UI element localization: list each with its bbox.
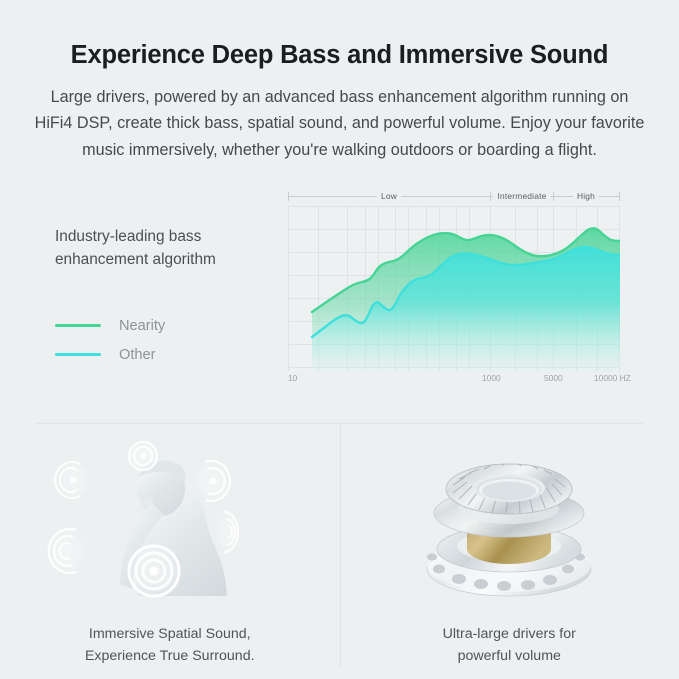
panel-ultra-large-drivers: Ultra-large drivers for powerful volume <box>340 424 679 679</box>
spatial-sound-svg <box>30 441 310 611</box>
speaker-driver-exploded-view <box>340 438 679 613</box>
legend-item-nearity: Nearity <box>55 311 280 340</box>
page-title: Experience Deep Bass and Immersive Sound <box>28 40 651 70</box>
panel-caption-line-2: Experience True Surround. <box>85 645 255 667</box>
band-label-intermediate: Intermediate <box>494 188 551 204</box>
header-section: Experience Deep Bass and Immersive Sound… <box>0 0 679 163</box>
frequency-band-ruler: Low Intermediate High <box>288 188 620 204</box>
chart-plot-area <box>288 206 620 371</box>
panel-caption-line-1: Ultra-large drivers for <box>443 623 576 645</box>
chart-legend: Nearity Other <box>55 311 280 369</box>
band-tick <box>619 192 620 201</box>
band-label-high: High <box>573 188 599 204</box>
legend-swatch-other <box>55 353 101 356</box>
legend-swatch-nearity <box>55 324 101 327</box>
panel-immersive-spatial-sound: Immersive Spatial Sound, Experience True… <box>0 424 340 679</box>
chart-legend-panel: Industry-leading bass enhancement algori… <box>55 225 280 369</box>
x-tick-10000: 10000 HZ <box>594 373 631 383</box>
chart-section: Industry-leading bass enhancement algori… <box>0 183 679 398</box>
chart-svg <box>288 206 620 371</box>
marketing-page: Experience Deep Bass and Immersive Sound… <box>0 0 679 679</box>
panel-caption-line-1: Immersive Spatial Sound, <box>85 623 255 645</box>
legend-label-other: Other <box>119 347 156 363</box>
driver-svg <box>389 441 629 611</box>
frequency-response-chart: Low Intermediate High <box>288 188 620 393</box>
driver-corrugated-ring <box>446 464 572 514</box>
band-label-low: Low <box>377 188 401 204</box>
panel-caption-line-2: powerful volume <box>443 645 576 667</box>
panel-caption-immersive: Immersive Spatial Sound, Experience True… <box>85 623 255 667</box>
x-tick-10: 10 <box>288 373 297 383</box>
panel-caption-drivers: Ultra-large drivers for powerful volume <box>443 623 576 667</box>
chart-caption: Industry-leading bass enhancement algori… <box>55 225 280 271</box>
feature-panels: Immersive Spatial Sound, Experience True… <box>0 424 679 679</box>
x-tick-1000: 1000 <box>482 373 501 383</box>
legend-label-nearity: Nearity <box>119 318 165 334</box>
immersive-spatial-sound-illustration <box>0 438 340 613</box>
chart-x-axis: 10 1000 5000 10000 HZ <box>288 371 620 389</box>
page-subcopy: Large drivers, powered by an advanced ba… <box>31 84 649 163</box>
x-tick-5000: 5000 <box>544 373 563 383</box>
legend-item-other: Other <box>55 340 280 369</box>
